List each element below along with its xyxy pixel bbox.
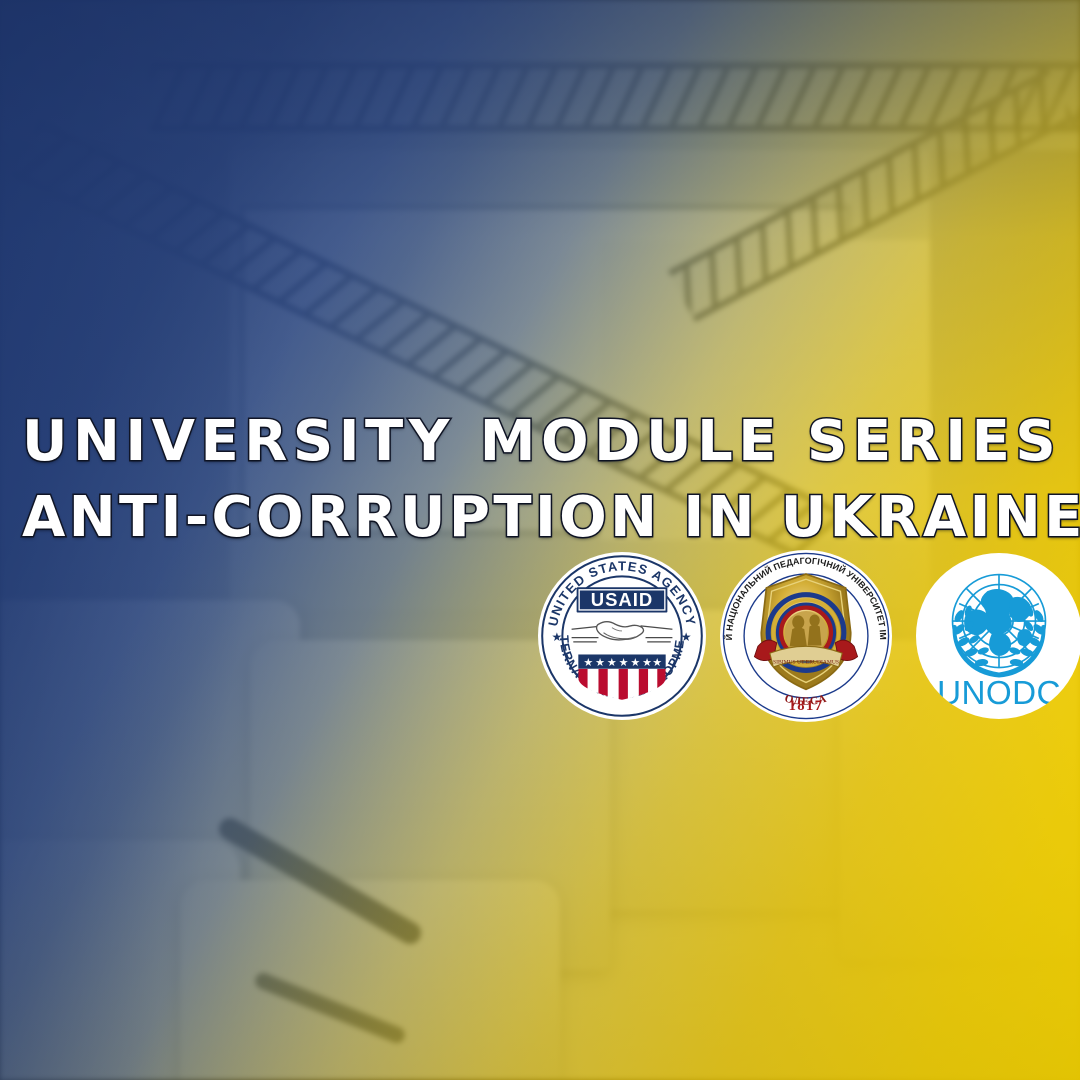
svg-text:USAID: USAID (591, 589, 654, 610)
svg-text:★: ★ (619, 657, 629, 669)
poster-canvas: UNIVERSITY MODULE SERIES ON ANTI-CORRUPT… (0, 0, 1080, 1080)
title-line-1: UNIVERSITY MODULE SERIES ON (22, 404, 1022, 480)
page-title: UNIVERSITY MODULE SERIES ON ANTI-CORRUPT… (22, 404, 1022, 556)
svg-text:★: ★ (630, 657, 640, 669)
svg-text:★: ★ (607, 657, 617, 669)
svg-text:★: ★ (652, 657, 662, 669)
unodc-logo: United Nations Office on Drugs and Crime… (916, 553, 1080, 719)
svg-text:★: ★ (551, 631, 562, 644)
usaid-logo: USAID seal UNITED STATES AGENCY INTERNAT… (538, 552, 706, 720)
svg-text:SIBIMUS UT ERUDIAMUS: SIBIMUS UT ERUDIAMUS (773, 660, 839, 666)
ushynsky-university-logo: University coat of arms ПІВДЕННОУКРАЇНСЬ… (720, 550, 892, 722)
svg-text:★: ★ (583, 657, 593, 669)
svg-text:★: ★ (681, 631, 692, 644)
title-line-2: ANTI-CORRUPTION IN UKRAINE (22, 480, 1022, 556)
unodc-logo-alt: United Nations Office on Drugs and Crime… (916, 553, 917, 554)
usaid-logo-alt: USAID seal (538, 552, 539, 553)
unodc-wordmark: UNODC (937, 675, 1061, 712)
svg-text:1817: 1817 (789, 698, 824, 714)
svg-text:★: ★ (642, 657, 652, 669)
partner-logo-row: USAID seal UNITED STATES AGENCY INTERNAT… (538, 552, 1080, 720)
svg-text:★: ★ (595, 657, 605, 669)
